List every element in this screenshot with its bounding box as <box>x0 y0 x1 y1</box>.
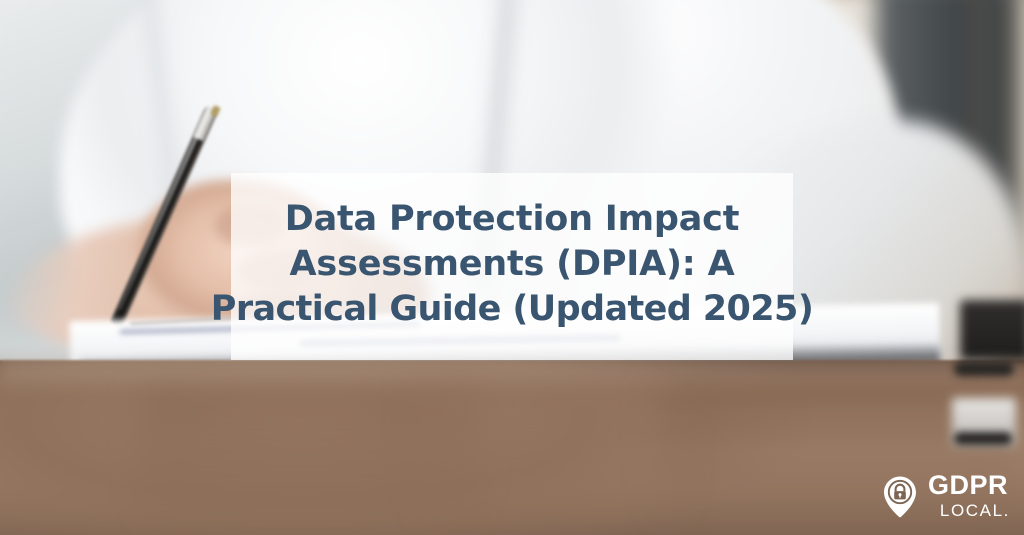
logo-wordmark: GDPR LOCAL. <box>928 472 1008 521</box>
desk-device <box>954 432 1012 445</box>
desk-grain <box>420 372 680 532</box>
gdpr-local-logo[interactable]: GDPR LOCAL. <box>881 472 1008 521</box>
title-overlay-panel: Data Protection Impact Assessments (DPIA… <box>231 173 793 360</box>
page-title-line-2: Assessments (DPIA): A <box>290 242 735 287</box>
page-title-line-1: Data Protection Impact <box>285 197 740 242</box>
desk-device <box>954 362 1014 376</box>
page-title-line-3: Practical Guide (Updated 2025) <box>211 287 813 332</box>
logo-secondary-text: LOCAL. <box>940 501 1010 521</box>
desk-device <box>960 300 1024 360</box>
logo-primary-text: GDPR <box>928 472 1008 499</box>
article-hero-banner: Data Protection Impact Assessments (DPIA… <box>0 0 1024 535</box>
map-pin-lock-icon <box>881 475 919 519</box>
